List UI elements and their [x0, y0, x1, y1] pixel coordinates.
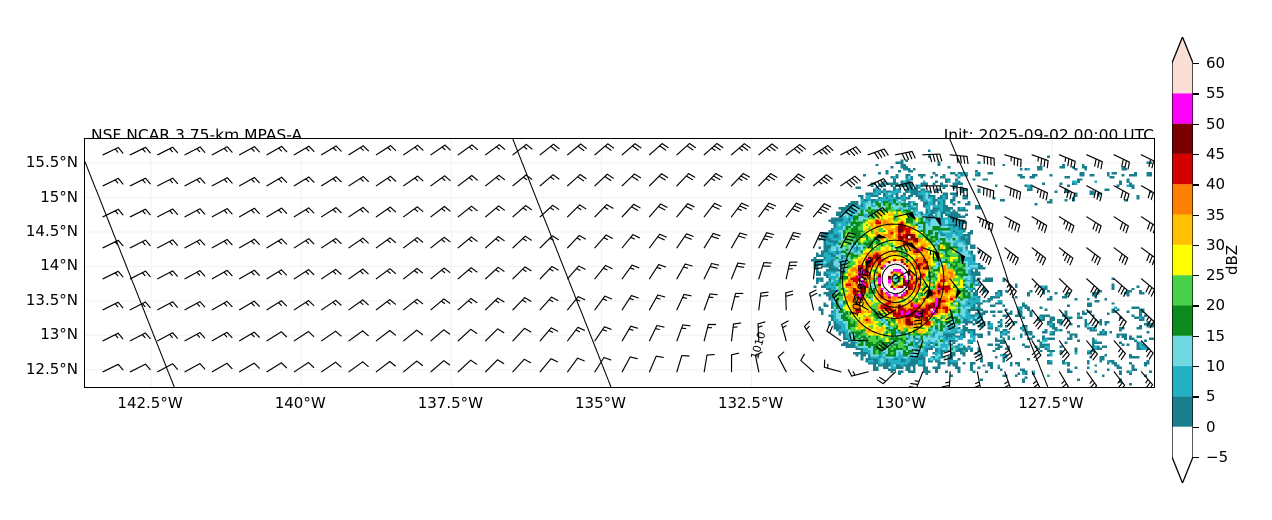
- colorbar-tick-mark: [1193, 275, 1199, 276]
- colorbar-tick-label: 50: [1206, 115, 1225, 133]
- colorbar-tick-mark: [1193, 245, 1199, 246]
- colorbar: [1172, 37, 1193, 483]
- colorbar-tick-label: −5: [1206, 448, 1228, 466]
- colorbar-tick-label: 45: [1206, 145, 1225, 163]
- colorbar-tick-mark: [1193, 93, 1199, 94]
- x-tick-label: 135°W: [575, 394, 626, 412]
- map-axes: 99610021010: [84, 138, 1155, 388]
- colorbar-band: [1172, 154, 1193, 184]
- colorbar-tick-mark: [1193, 366, 1199, 367]
- y-tick-label: 13.5°N: [26, 291, 78, 309]
- colorbar-tick-mark: [1193, 63, 1199, 64]
- colorbar-tick-label: 0: [1206, 418, 1216, 436]
- x-tick-label: 130°W: [875, 394, 926, 412]
- x-tick-label: 137.5°W: [418, 394, 483, 412]
- colorbar-tick-label: 5: [1206, 387, 1216, 405]
- colorbar-band: [1172, 124, 1193, 154]
- colorbar-band: [1172, 184, 1193, 214]
- colorbar-tick-mark: [1193, 215, 1199, 216]
- colorbar-tick-mark: [1193, 154, 1199, 155]
- colorbar-tick-mark: [1193, 396, 1199, 397]
- colorbar-band: [1172, 336, 1193, 366]
- y-tick-label: 13°N: [40, 325, 78, 343]
- colorbar-tick-mark: [1193, 124, 1199, 125]
- colorbar-extend-min: [1172, 457, 1193, 483]
- y-tick-label: 14.5°N: [26, 222, 78, 240]
- colorbar-band: [1172, 93, 1193, 123]
- colorbar-band: [1172, 275, 1193, 305]
- colorbar-tick-label: 20: [1206, 296, 1225, 314]
- colorbar-tick-label: 35: [1206, 206, 1225, 224]
- x-tick-label: 127.5°W: [1018, 394, 1083, 412]
- colorbar-tick-label: 10: [1206, 357, 1225, 375]
- colorbar-tick-label: 60: [1206, 54, 1225, 72]
- colorbar-band: [1172, 63, 1193, 93]
- colorbar-tick-mark: [1193, 305, 1199, 306]
- colorbar-band: [1172, 396, 1193, 426]
- reflectivity-field: 99610021010: [85, 139, 1154, 387]
- y-tick-label: 14°N: [40, 256, 78, 274]
- colorbar-tick-label: 40: [1206, 175, 1225, 193]
- colorbar-band: [1172, 427, 1193, 457]
- colorbar-tick-label: 15: [1206, 327, 1225, 345]
- x-tick-label: 132.5°W: [718, 394, 783, 412]
- y-tick-label: 12.5°N: [26, 360, 78, 378]
- colorbar-tick-mark: [1193, 184, 1199, 185]
- colorbar-band: [1172, 215, 1193, 245]
- colorbar-tick-label: 55: [1206, 84, 1225, 102]
- x-tick-label: 142.5°W: [117, 394, 182, 412]
- colorbar-tick-mark: [1193, 427, 1199, 428]
- colorbar-extend-max: [1172, 37, 1193, 63]
- colorbar-tick-mark: [1193, 336, 1199, 337]
- y-tick-label: 15.5°N: [26, 153, 78, 171]
- colorbar-band: [1172, 245, 1193, 275]
- x-tick-label: 140°W: [275, 394, 326, 412]
- colorbar-gradient: [1172, 37, 1193, 483]
- y-tick-label: 15°N: [40, 188, 78, 206]
- figure: NSF NCAR 3.75-km MPAS-A Reflectivity at …: [0, 0, 1272, 520]
- colorbar-tick-mark: [1193, 457, 1199, 458]
- colorbar-axis-label: dBZ: [1223, 245, 1241, 275]
- colorbar-band: [1172, 366, 1193, 396]
- colorbar-band: [1172, 305, 1193, 335]
